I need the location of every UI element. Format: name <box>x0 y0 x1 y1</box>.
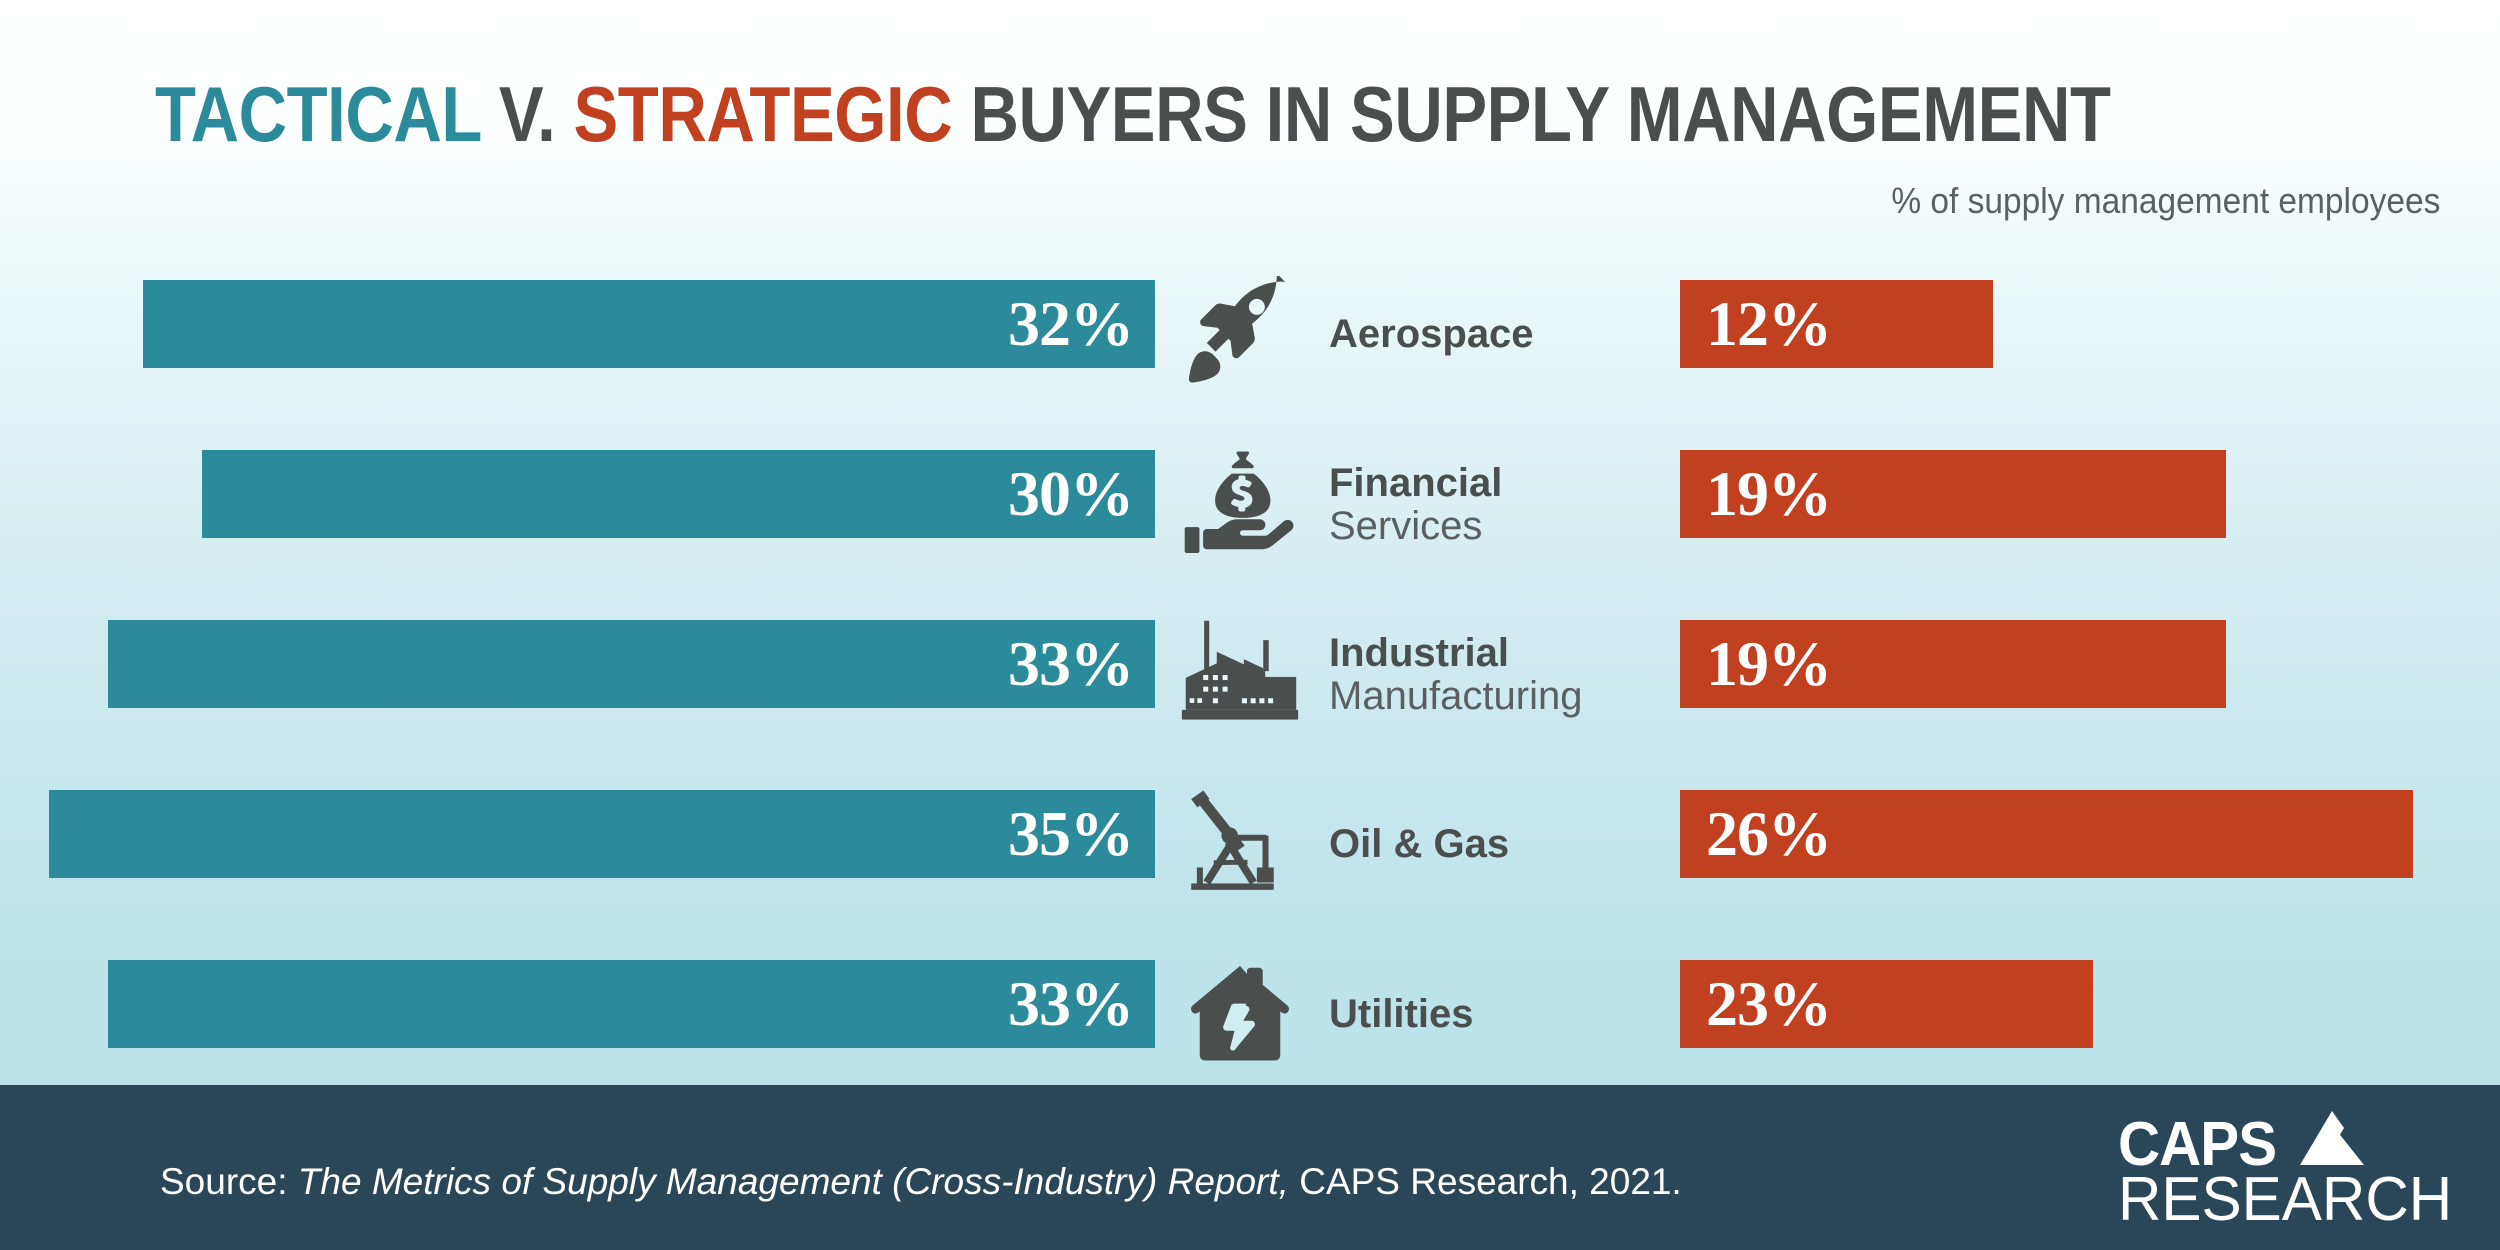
category-label-services: Services <box>1329 505 1502 548</box>
row-labels-utilities: Utilities <box>1329 993 1473 1036</box>
row-center-financial-services: Financial Services <box>1175 425 1675 585</box>
row-labels-aerospace: Aerospace <box>1329 313 1534 356</box>
strategic-bar-aerospace: 12% <box>1680 280 1993 368</box>
chart-row-utilities: 33% Utilities 23% <box>0 935 2500 1095</box>
source-citation: Source: The Metrics of Supply Management… <box>160 1161 1682 1203</box>
money-bag-hand-icon <box>1175 440 1305 570</box>
strategic-bar-industrial-manufacturing: 19% <box>1680 620 2226 708</box>
category-label-financial: Financial <box>1329 462 1502 505</box>
strategic-value-aerospace: 12% <box>1680 292 1831 356</box>
title-versus: V. <box>499 70 555 158</box>
row-center-oil-and-gas: Oil & Gas <box>1175 765 1675 925</box>
title-strategic: STRATEGIC <box>573 70 952 158</box>
strategic-value-oil-and-gas: 26% <box>1680 802 1831 866</box>
tactical-value-financial-services: 30% <box>1008 462 1155 526</box>
strategic-value-utilities: 23% <box>1680 972 1831 1036</box>
caps-research-logo: CAPS RESEARCH <box>2118 1107 2448 1232</box>
source-publisher: CAPS Research, 2021. <box>1299 1161 1682 1202</box>
rocket-icon <box>1175 270 1305 400</box>
row-labels-financial-services: Financial Services <box>1329 462 1502 548</box>
category-label-industrial: Industrial <box>1329 632 1582 675</box>
tactical-bar-oil-and-gas: 35% <box>49 790 1155 878</box>
chart-area: 32% Aerospace 12% 30% <box>0 255 2500 1085</box>
oil-pumpjack-icon <box>1175 780 1305 910</box>
house-lightning-icon <box>1175 950 1305 1080</box>
tactical-value-industrial-manufacturing: 33% <box>1008 632 1155 696</box>
strategic-bar-utilities: 23% <box>1680 960 2093 1048</box>
chart-row-financial-services: 30% Financial Services 19% <box>0 425 2500 585</box>
footer-band: Source: The Metrics of Supply Management… <box>0 1085 2500 1250</box>
tactical-bar-financial-services: 30% <box>202 450 1155 538</box>
factory-icon <box>1175 610 1305 740</box>
title-tactical: TACTICAL <box>155 70 481 158</box>
tactical-value-utilities: 33% <box>1008 972 1155 1036</box>
tactical-bar-aerospace: 32% <box>143 280 1155 368</box>
row-center-industrial-manufacturing: Industrial Manufacturing <box>1175 595 1675 755</box>
category-label-manufacturing: Manufacturing <box>1329 675 1582 718</box>
row-labels-oil-and-gas: Oil & Gas <box>1329 823 1509 866</box>
category-label-utilities: Utilities <box>1329 993 1473 1036</box>
logo-research-text: RESEARCH <box>2118 1169 2452 1231</box>
source-prefix: Source: <box>160 1161 288 1202</box>
tactical-bar-industrial-manufacturing: 33% <box>108 620 1155 708</box>
strategic-bar-financial-services: 19% <box>1680 450 2226 538</box>
category-label-oil-and-gas: Oil & Gas <box>1329 823 1509 866</box>
row-center-aerospace: Aerospace <box>1175 255 1675 415</box>
header: TACTICAL V. STRATEGIC BUYERS IN SUPPLY M… <box>0 0 2500 240</box>
row-center-utilities: Utilities <box>1175 935 1675 1095</box>
strategic-value-financial-services: 19% <box>1680 462 1831 526</box>
tactical-bar-utilities: 33% <box>108 960 1155 1048</box>
chart-row-industrial-manufacturing: 33% <box>0 595 2500 755</box>
infographic-canvas: TACTICAL V. STRATEGIC BUYERS IN SUPPLY M… <box>0 0 2500 1250</box>
tactical-value-oil-and-gas: 35% <box>1008 802 1155 866</box>
strategic-value-industrial-manufacturing: 19% <box>1680 632 1831 696</box>
tactical-value-aerospace: 32% <box>1008 292 1155 356</box>
subtitle: % of supply management employees <box>1891 180 2440 222</box>
row-labels-industrial-manufacturing: Industrial Manufacturing <box>1329 632 1582 718</box>
page-title: TACTICAL V. STRATEGIC BUYERS IN SUPPLY M… <box>155 75 2111 153</box>
category-label-aerospace: Aerospace <box>1329 313 1534 356</box>
source-report-title: The Metrics of Supply Management (Cross-… <box>298 1161 1289 1202</box>
strategic-bar-oil-and-gas: 26% <box>1680 790 2413 878</box>
chart-row-aerospace: 32% Aerospace 12% <box>0 255 2500 415</box>
title-rest: BUYERS IN SUPPLY MANAGEMENT <box>970 70 2110 158</box>
chart-row-oil-and-gas: 35% <box>0 765 2500 925</box>
